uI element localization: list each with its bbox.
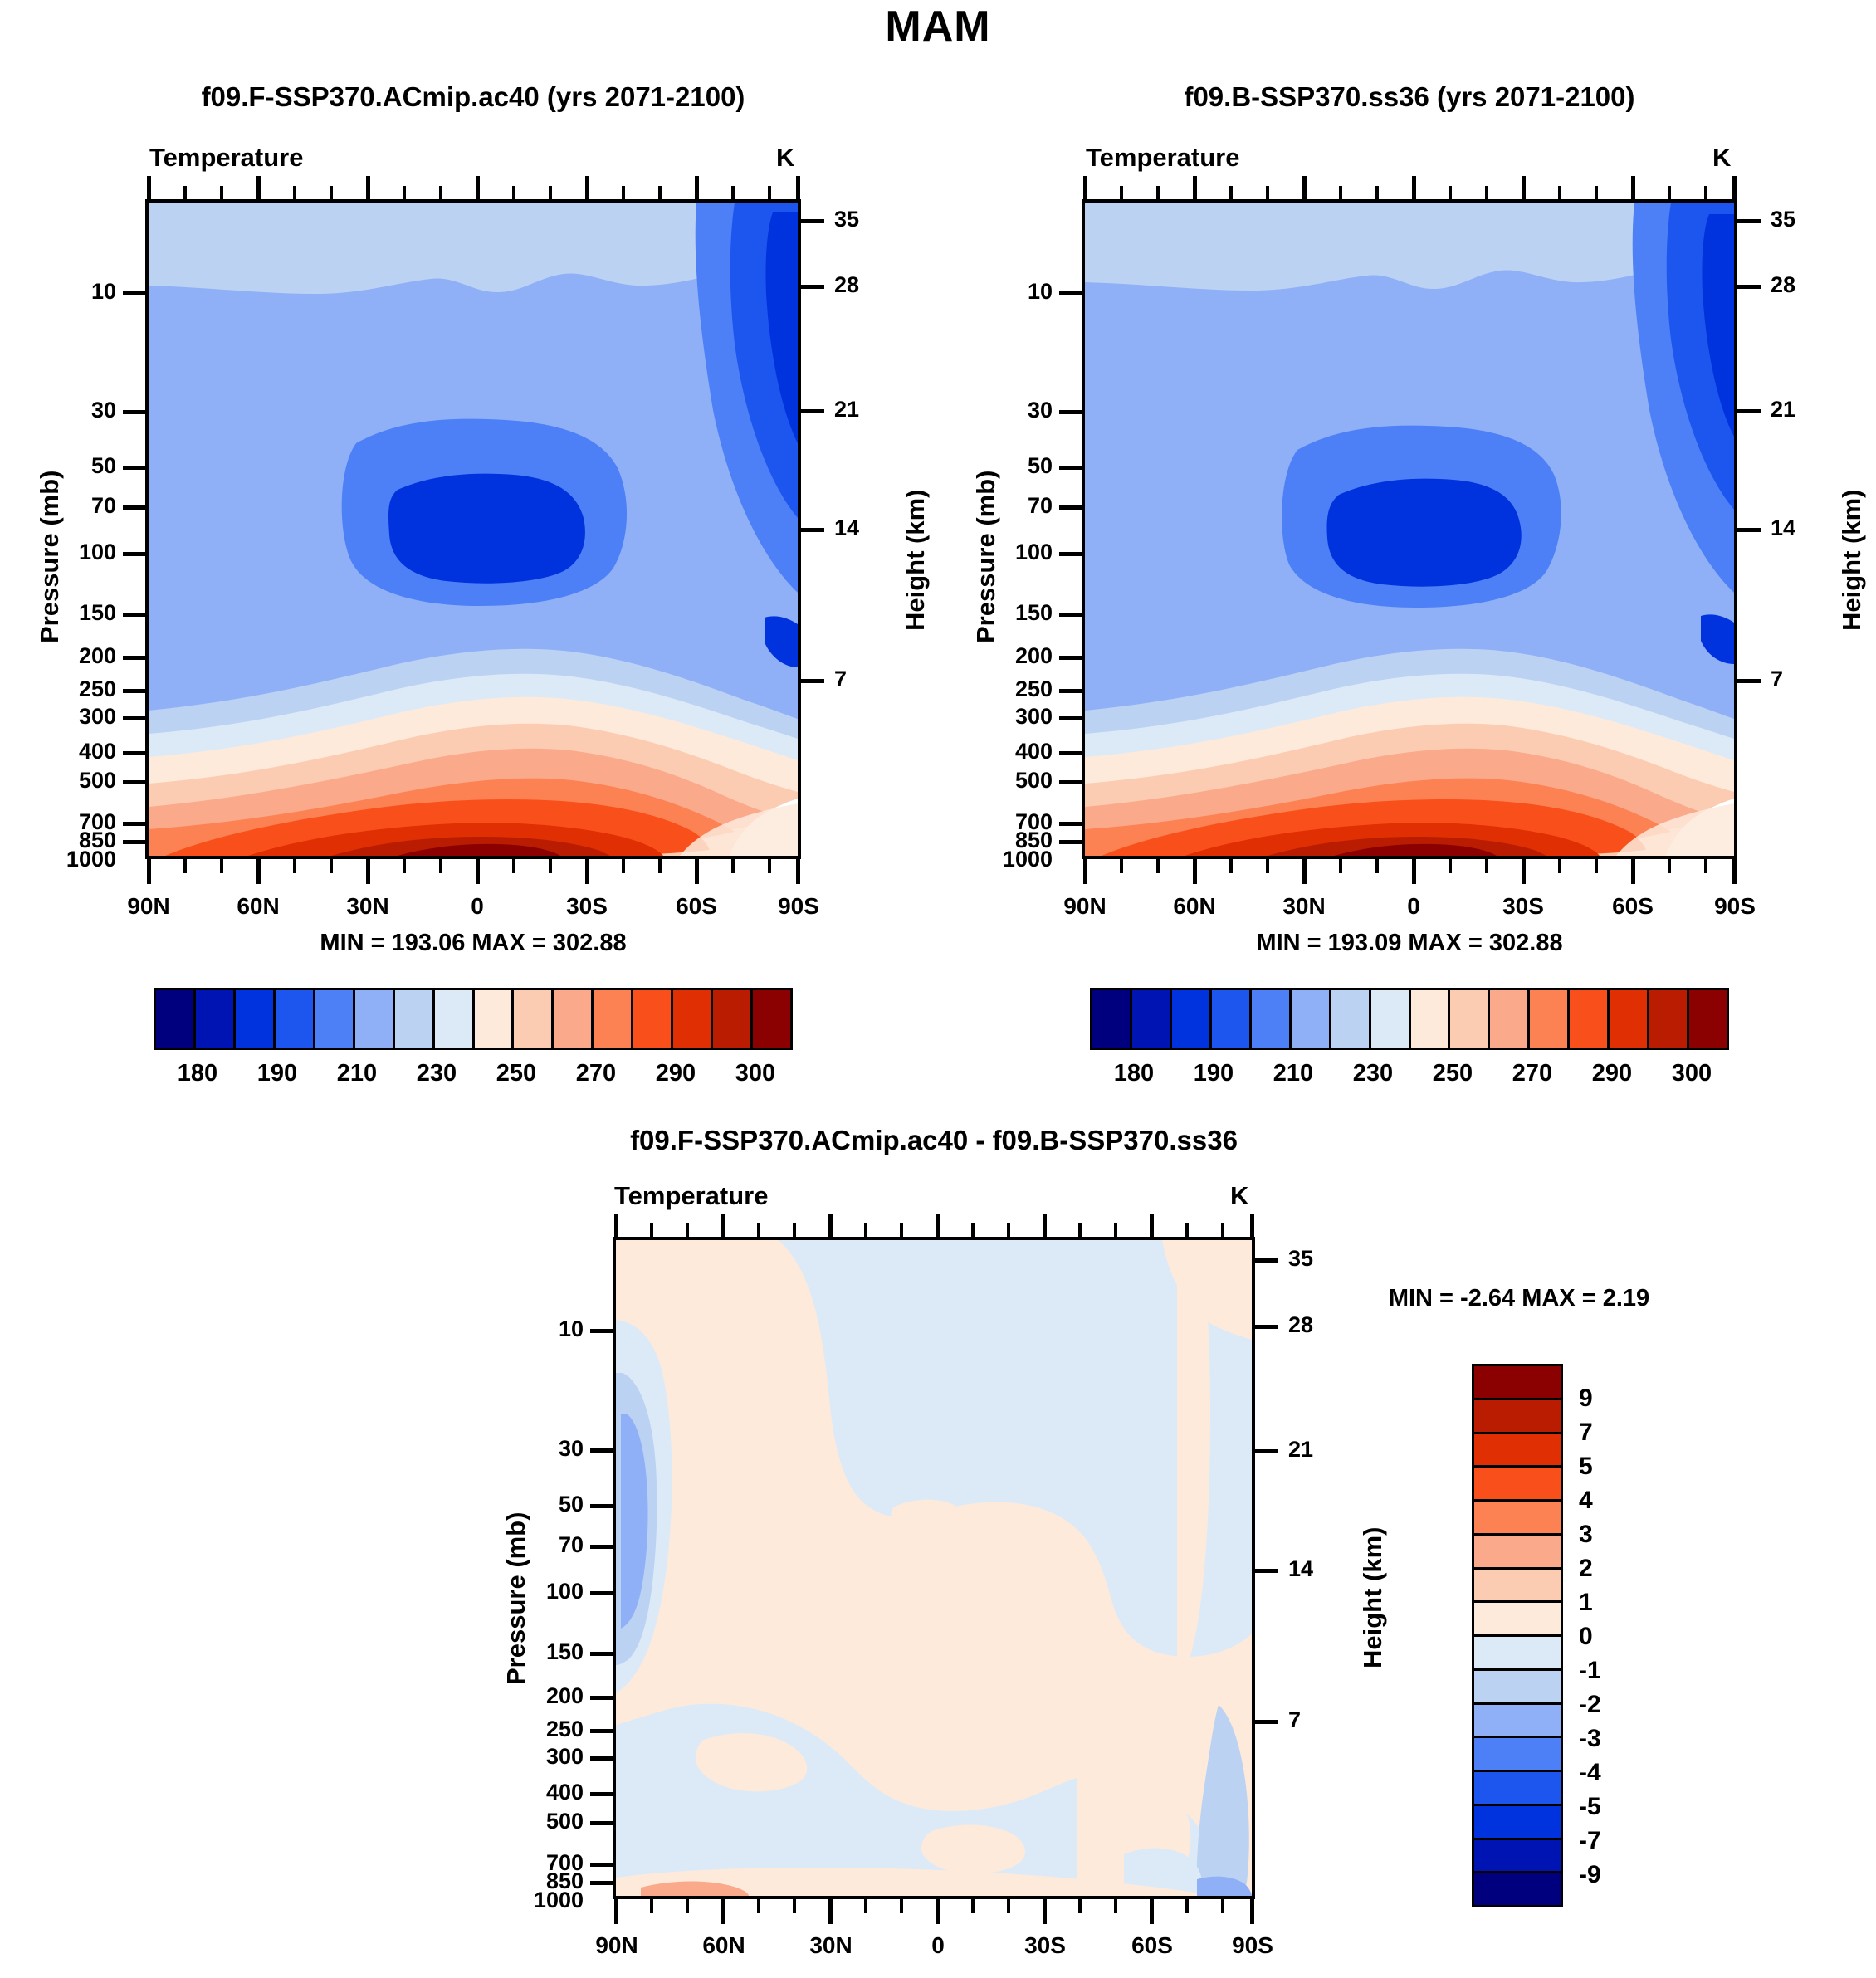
right-plot-ytick — [1059, 689, 1082, 693]
left-colorbar-tick-label: 190 — [236, 1060, 319, 1087]
left-plot-xtick-label: 90S — [749, 893, 848, 920]
right-plot-ytick — [1059, 840, 1082, 844]
right-plot-tick-top — [1302, 176, 1307, 199]
right-plot-tick-bottom — [1266, 859, 1269, 873]
left-plot-tick-top — [183, 186, 187, 199]
right-plot-tick-bottom — [1485, 859, 1488, 873]
left-plot-ytick — [123, 466, 146, 470]
left-plot-tick-top — [220, 186, 223, 199]
left-plot-ytick — [123, 780, 146, 784]
colorbar-swatch — [1689, 990, 1727, 1048]
left-colorbar-tick-label: 180 — [156, 1060, 239, 1087]
right-plot-tick-top — [1266, 186, 1269, 199]
diff-plot-tick-bottom — [1007, 1899, 1010, 1913]
diff-plot-ytick — [590, 1448, 613, 1453]
diff-plot-ytick-right — [1255, 1449, 1278, 1453]
diff-colorbar-tick-label: 5 — [1579, 1453, 1593, 1481]
diff-plot-tick-bottom — [1185, 1899, 1189, 1913]
diff-plot-tick-top — [1221, 1223, 1224, 1237]
right-plot-xtick-label: 30S — [1473, 893, 1573, 920]
diff-plot-ytick — [590, 1696, 613, 1700]
right-plot-ytick-label: 250 — [970, 676, 1053, 702]
diff-plot-xtick-label: 90S — [1203, 1932, 1302, 1959]
diff-plot-ytick-right — [1255, 1720, 1278, 1724]
colorbar-swatch — [1490, 990, 1530, 1048]
diff-plot-tick-top — [686, 1223, 689, 1237]
diff-plot-ytick-label: 70 — [498, 1532, 584, 1558]
right-plot-ytick — [1059, 751, 1082, 755]
left-colorbar-tick-label: 210 — [315, 1060, 398, 1087]
diff-colorbar-tick-label: -1 — [1579, 1657, 1601, 1685]
diff-plot-ytick — [590, 1756, 613, 1761]
colorbar-swatch — [673, 990, 713, 1048]
left-plot-ytick — [123, 613, 146, 617]
right-plot-xtick-label: 60S — [1583, 893, 1683, 920]
colorbar-swatch — [1474, 1772, 1561, 1806]
diff-plot-ytick-label: 1000 — [481, 1888, 584, 1913]
right-plot-ytick — [1059, 822, 1082, 826]
left-plot-tick-bottom — [549, 859, 552, 873]
colorbar-swatch — [1474, 1873, 1561, 1905]
left-plot-tick-top — [293, 186, 296, 199]
right-plot-tick-bottom — [1558, 859, 1561, 873]
left-panel-ylabel-right: Height (km) — [901, 490, 931, 632]
right-plot-ytick-label: 1000 — [953, 847, 1053, 872]
colorbar-swatch — [1474, 1637, 1561, 1671]
colorbar-swatch — [1474, 1671, 1561, 1705]
diff-plot-tick-bottom — [936, 1899, 940, 1924]
right-plot-ytick-label: 500 — [970, 768, 1053, 794]
diff-plot-tick-top — [971, 1223, 975, 1237]
diff-plot-tick-bottom — [793, 1899, 796, 1913]
diff-colorbar-tick-label: 9 — [1579, 1385, 1593, 1413]
colorbar-swatch — [475, 990, 515, 1048]
left-plot-tick-top — [549, 186, 552, 199]
left-plot-tick-bottom — [768, 859, 771, 873]
right-plot-ytick-right-label: 7 — [1771, 667, 1783, 692]
diff-plot-ytick — [590, 1329, 613, 1333]
diff-plot-ytick — [590, 1863, 613, 1867]
colorbar-swatch — [156, 990, 196, 1048]
colorbar-swatch — [1474, 1434, 1561, 1468]
left-plot-ytick-label: 250 — [33, 676, 116, 702]
diff-plot-xtick-label: 90N — [567, 1932, 667, 1959]
diff-plot-ytick-label: 150 — [498, 1639, 584, 1665]
right-plot-tick-bottom — [1302, 859, 1307, 884]
diff-plot-tick-bottom — [864, 1899, 867, 1913]
right-plot-tick-top — [1083, 176, 1087, 199]
diff-colorbar-tick-label: -9 — [1579, 1861, 1601, 1889]
diff-colorbar-tick-label: -7 — [1579, 1827, 1601, 1855]
right-plot-tick-top — [1558, 186, 1561, 199]
left-plot-ytick-right — [801, 528, 824, 532]
colorbar-swatch — [1092, 990, 1132, 1048]
right-plot-xtick-label: 30N — [1254, 893, 1354, 920]
left-plot-tick-bottom — [658, 859, 662, 873]
colorbar-swatch — [1474, 1705, 1561, 1739]
diff-colorbar-tick-label: -5 — [1579, 1793, 1601, 1821]
diff-plot-tick-bottom — [757, 1899, 760, 1913]
diff-plot-ytick-label: 50 — [498, 1492, 584, 1517]
right-plot-tick-bottom — [1631, 859, 1635, 884]
colorbar-swatch — [554, 990, 594, 1048]
diff-plot-ytick-right — [1255, 1569, 1278, 1573]
right-plot-ytick — [1059, 613, 1082, 617]
left-plot-xtick-label: 30N — [318, 893, 418, 920]
left-plot-xtick-label: 90N — [99, 893, 198, 920]
right-panel-title: f09.B-SSP370.ss36 (yrs 2071-2100) — [1032, 81, 1787, 113]
left-plot-ytick-label: 400 — [33, 739, 116, 764]
colorbar-swatch — [594, 990, 633, 1048]
diff-plot-ytick-label: 10 — [498, 1316, 584, 1342]
right-plot-ytick-label: 100 — [970, 540, 1053, 565]
left-plot-ytick-right-label: 7 — [834, 667, 847, 692]
diff-plot-ytick-right — [1255, 1258, 1278, 1263]
right-plot-ytick-label: 10 — [970, 279, 1053, 305]
diff-plot-tick-bottom — [1150, 1899, 1154, 1924]
diff-plot-xtick-label: 0 — [888, 1932, 988, 1959]
left-panel-title: f09.F-SSP370.ACmip.ac40 (yrs 2071-2100) — [95, 81, 851, 113]
diff-plot-tick-bottom — [721, 1899, 725, 1924]
left-plot-xtick-label: 30S — [537, 893, 637, 920]
right-plot-tick-bottom — [1732, 859, 1737, 884]
left-plot-tick-bottom — [439, 859, 442, 873]
left-plot-ytick-label: 100 — [33, 540, 116, 565]
right-plot-xtick-label: 60N — [1145, 893, 1244, 920]
right-plot-tick-bottom — [1229, 859, 1233, 873]
colorbar-swatch — [753, 990, 790, 1048]
right-colorbar-tick-label: 230 — [1331, 1060, 1414, 1087]
colorbar-swatch — [1450, 990, 1490, 1048]
right-plot-tick-top — [1375, 186, 1379, 199]
right-colorbar-tick-label: 290 — [1571, 1060, 1654, 1087]
left-plot-ytick-label: 30 — [33, 398, 116, 423]
left-plot-ytick-right-label: 14 — [834, 515, 859, 541]
left-colorbar-tick-label: 270 — [554, 1060, 638, 1087]
diff-plot-ytick-right-label: 7 — [1288, 1707, 1301, 1733]
diff-panel-plot[interactable] — [613, 1237, 1255, 1899]
left-plot-tick-top — [403, 186, 406, 199]
left-plot-tick-bottom — [731, 859, 735, 873]
right-colorbar[interactable] — [1090, 988, 1729, 1050]
colorbar-swatch — [435, 990, 475, 1048]
diff-plot-ytick — [590, 1881, 613, 1885]
diff-panel-ylabel-right: Height (km) — [1358, 1527, 1388, 1669]
left-plot-tick-top — [512, 186, 515, 199]
colorbar-swatch — [633, 990, 673, 1048]
diff-plot-tick-top — [650, 1223, 653, 1237]
left-plot-xtick-label: 60N — [208, 893, 308, 920]
colorbar-swatch — [1252, 990, 1292, 1048]
left-panel-variable-label: Temperature — [149, 143, 304, 173]
right-plot-ytick-right-label: 28 — [1771, 272, 1795, 298]
left-plot-tick-bottom — [585, 859, 589, 884]
right-plot-tick-bottom — [1595, 859, 1598, 873]
diff-plot-tick-top — [793, 1223, 796, 1237]
diff-plot-ytick — [590, 1591, 613, 1595]
colorbar-swatch — [1474, 1536, 1561, 1570]
left-plot-ytick-label: 300 — [33, 704, 116, 730]
right-plot-tick-bottom — [1668, 859, 1671, 873]
colorbar-swatch — [1474, 1840, 1561, 1874]
right-plot-tick-top — [1668, 186, 1671, 199]
right-plot-tick-bottom — [1120, 859, 1123, 873]
right-plot-tick-top — [1485, 186, 1488, 199]
diff-colorbar-tick-label: -3 — [1579, 1725, 1601, 1753]
diff-plot-ytick-right-label: 14 — [1288, 1556, 1313, 1582]
left-plot-tick-top — [476, 176, 480, 199]
figure-root: MAM f09.F-SSP370.ACmip.ac40 (yrs 2071-21… — [0, 0, 1876, 1978]
left-plot-ytick — [123, 656, 146, 660]
diff-plot-tick-bottom — [900, 1899, 903, 1913]
diff-plot-ytick — [590, 1821, 613, 1825]
left-plot-tick-top — [330, 186, 333, 199]
left-plot-tick-bottom — [512, 859, 515, 873]
diff-plot-ytick-label: 400 — [498, 1780, 584, 1805]
right-panel-units-label: K — [1712, 143, 1731, 173]
right-colorbar-tick-label: 270 — [1491, 1060, 1574, 1087]
figure-suptitle: MAM — [0, 2, 1876, 51]
diff-plot-tick-bottom — [686, 1899, 689, 1913]
diff-plot-ytick-right-label: 28 — [1288, 1312, 1313, 1338]
right-colorbar-tick-label: 300 — [1650, 1060, 1733, 1087]
diff-panel-minmax: MIN = -2.64 MAX = 2.19 — [1320, 1285, 1718, 1312]
right-plot-tick-bottom — [1193, 859, 1197, 884]
left-plot-ytick-label: 500 — [33, 768, 116, 794]
right-plot-tick-top — [1522, 176, 1526, 199]
left-plot-tick-top — [796, 176, 800, 199]
left-plot-tick-top — [147, 176, 151, 199]
diff-plot-tick-top — [1114, 1223, 1117, 1237]
right-plot-xtick-label: 90S — [1685, 893, 1785, 920]
left-colorbar-tick-label: 250 — [475, 1060, 558, 1087]
right-plot-ytick-label: 70 — [970, 493, 1053, 519]
right-plot-ytick-label: 400 — [970, 739, 1053, 764]
left-plot-tick-top — [658, 186, 662, 199]
right-plot-tick-top — [1156, 186, 1160, 199]
diff-plot-ytick-label: 30 — [498, 1436, 584, 1462]
colorbar-swatch — [1570, 990, 1610, 1048]
diff-plot-tick-bottom — [650, 1899, 653, 1913]
diff-plot-tick-bottom — [1043, 1899, 1047, 1924]
diff-plot-tick-top — [1007, 1223, 1010, 1237]
left-plot-tick-bottom — [366, 859, 370, 884]
colorbar-swatch — [355, 990, 395, 1048]
diff-plot-tick-top — [1043, 1214, 1047, 1237]
colorbar-swatch — [713, 990, 753, 1048]
right-plot-ytick — [1059, 291, 1082, 295]
right-colorbar-tick-label: 250 — [1411, 1060, 1494, 1087]
diff-plot-tick-bottom — [971, 1899, 975, 1913]
diff-plot-ytick-label: 300 — [498, 1744, 584, 1770]
diff-colorbar-tick-label: 7 — [1579, 1419, 1593, 1447]
diff-colorbar-tick-label: 3 — [1579, 1521, 1593, 1549]
left-panel-contour-field — [149, 203, 798, 856]
diff-plot-ytick-right-label: 35 — [1288, 1246, 1313, 1272]
right-plot-tick-bottom — [1412, 859, 1416, 884]
colorbar-swatch — [1331, 990, 1371, 1048]
left-plot-ytick-label: 70 — [33, 493, 116, 519]
colorbar-swatch — [514, 990, 554, 1048]
left-plot-tick-top — [366, 176, 370, 199]
right-plot-ytick — [1059, 780, 1082, 784]
diff-colorbar-tick-label: -4 — [1579, 1759, 1601, 1787]
colorbar-swatch — [196, 990, 236, 1048]
right-plot-tick-bottom — [1449, 859, 1452, 873]
diff-plot-ytick — [590, 1729, 613, 1733]
left-plot-ytick — [123, 505, 146, 510]
diff-plot-ytick-label: 250 — [498, 1717, 584, 1742]
left-plot-tick-bottom — [622, 859, 625, 873]
diff-plot-tick-bottom — [1250, 1899, 1254, 1924]
right-colorbar-tick-label: 210 — [1252, 1060, 1335, 1087]
diff-plot-xtick-label: 30N — [781, 1932, 881, 1959]
diff-plot-tick-top — [936, 1214, 940, 1237]
left-plot-tick-top — [439, 186, 442, 199]
right-plot-tick-bottom — [1522, 859, 1526, 884]
right-plot-ytick-right — [1737, 679, 1761, 683]
left-plot-ytick-right-label: 28 — [834, 272, 859, 298]
diff-plot-xtick-label: 30S — [995, 1932, 1095, 1959]
left-plot-ytick — [123, 822, 146, 826]
colorbar-swatch — [1132, 990, 1172, 1048]
diff-panel-contour-field — [616, 1240, 1252, 1896]
diff-plot-tick-bottom — [1221, 1899, 1224, 1913]
right-plot-xtick-label: 90N — [1035, 893, 1135, 920]
right-plot-ytick-label: 200 — [970, 643, 1053, 669]
left-plot-ytick-right-label: 21 — [834, 397, 859, 422]
right-plot-tick-top — [1631, 176, 1635, 199]
right-plot-ytick-right — [1737, 285, 1761, 289]
right-colorbar-tick-label: 180 — [1092, 1060, 1175, 1087]
left-colorbar-tick-label: 290 — [634, 1060, 717, 1087]
colorbar-swatch — [1172, 990, 1212, 1048]
right-plot-ytick-label: 50 — [970, 453, 1053, 479]
right-panel-variable-label: Temperature — [1086, 143, 1240, 173]
right-panel-plot[interactable] — [1082, 199, 1737, 859]
right-plot-ytick — [1059, 716, 1082, 720]
left-plot-tick-bottom — [476, 859, 480, 884]
left-plot-ytick-label: 10 — [33, 279, 116, 305]
diff-plot-ytick — [590, 1545, 613, 1549]
right-plot-ytick — [1059, 505, 1082, 510]
right-plot-tick-top — [1449, 186, 1452, 199]
right-plot-tick-top — [1412, 176, 1416, 199]
diff-colorbar[interactable] — [1472, 1364, 1563, 1907]
diff-plot-ytick — [590, 1504, 613, 1508]
diff-colorbar-tick-label: 4 — [1579, 1487, 1593, 1515]
left-plot-tick-bottom — [220, 859, 223, 873]
right-plot-tick-bottom — [1156, 859, 1160, 873]
left-plot-xtick-label: 0 — [427, 893, 527, 920]
right-plot-tick-bottom — [1704, 859, 1707, 873]
colorbar-swatch — [1212, 990, 1252, 1048]
left-plot-ytick-right — [801, 679, 824, 683]
colorbar-swatch — [236, 990, 276, 1048]
diff-panel-variable-label: Temperature — [614, 1181, 769, 1211]
diff-plot-tick-top — [864, 1223, 867, 1237]
colorbar-swatch — [1474, 1603, 1561, 1637]
right-plot-tick-top — [1595, 186, 1598, 199]
left-plot-ytick — [123, 751, 146, 755]
diff-plot-tick-top — [1250, 1214, 1254, 1237]
right-plot-tick-top — [1704, 186, 1707, 199]
diff-plot-tick-top — [757, 1223, 760, 1237]
left-colorbar[interactable] — [154, 988, 793, 1050]
right-plot-ytick-right — [1737, 409, 1761, 413]
right-plot-ytick-right-label: 21 — [1771, 397, 1795, 422]
left-plot-tick-top — [585, 176, 589, 199]
diff-plot-xtick-label: 60S — [1102, 1932, 1202, 1959]
right-plot-tick-top — [1339, 186, 1342, 199]
left-plot-ytick-label: 150 — [33, 600, 116, 626]
colorbar-swatch — [395, 990, 435, 1048]
diff-plot-tick-bottom — [1078, 1899, 1082, 1913]
left-plot-ytick-right — [801, 409, 824, 413]
left-plot-ytick — [123, 840, 146, 844]
colorbar-swatch — [1474, 1400, 1561, 1434]
left-plot-ytick — [123, 552, 146, 556]
left-plot-ytick — [123, 689, 146, 693]
left-plot-tick-bottom — [183, 859, 187, 873]
right-plot-ytick — [1059, 552, 1082, 556]
left-plot-xtick-label: 60S — [647, 893, 746, 920]
diff-plot-tick-top — [721, 1214, 725, 1237]
left-plot-tick-top — [768, 186, 771, 199]
colorbar-swatch — [1292, 990, 1331, 1048]
right-plot-ytick — [1059, 466, 1082, 470]
diff-plot-ytick-right-label: 21 — [1288, 1437, 1313, 1463]
right-plot-tick-top — [1732, 176, 1737, 199]
diff-plot-xtick-label: 60N — [674, 1932, 774, 1959]
left-plot-ytick-right-label: 35 — [834, 207, 859, 232]
colorbar-swatch — [1474, 1366, 1561, 1400]
left-plot-tick-top — [695, 176, 699, 199]
diff-plot-tick-top — [1150, 1214, 1154, 1237]
left-plot-ytick — [123, 291, 146, 295]
left-colorbar-tick-label: 230 — [395, 1060, 478, 1087]
diff-plot-tick-bottom — [1114, 1899, 1117, 1913]
right-plot-ytick-right-label: 14 — [1771, 515, 1795, 541]
right-panel-minmax: MIN = 193.09 MAX = 302.88 — [1082, 930, 1737, 957]
left-plot-tick-bottom — [796, 859, 800, 884]
right-plot-tick-bottom — [1339, 859, 1342, 873]
diff-plot-tick-bottom — [614, 1899, 618, 1924]
left-plot-tick-bottom — [330, 859, 333, 873]
left-plot-tick-top — [731, 186, 735, 199]
left-plot-ytick — [123, 716, 146, 720]
colorbar-swatch — [276, 990, 315, 1048]
colorbar-swatch — [1649, 990, 1689, 1048]
diff-colorbar-tick-label: 2 — [1579, 1555, 1593, 1583]
diff-colorbar-tick-label: 1 — [1579, 1589, 1593, 1617]
diff-plot-tick-bottom — [828, 1899, 833, 1924]
diff-colorbar-tick-label: -2 — [1579, 1691, 1601, 1719]
diff-plot-ytick-label: 200 — [498, 1683, 584, 1709]
diff-panel-units-label: K — [1230, 1181, 1248, 1211]
colorbar-swatch — [1474, 1570, 1561, 1604]
colorbar-swatch — [1474, 1806, 1561, 1840]
diff-plot-tick-top — [1078, 1223, 1082, 1237]
right-plot-ytick-right-label: 35 — [1771, 207, 1795, 232]
diff-plot-ytick-right — [1255, 1325, 1278, 1329]
diff-panel-title: f09.F-SSP370.ACmip.ac40 - f09.B-SSP370.s… — [477, 1125, 1390, 1156]
right-plot-tick-top — [1229, 186, 1233, 199]
right-plot-ytick-right — [1737, 219, 1761, 223]
left-panel-plot[interactable] — [145, 199, 801, 859]
colorbar-swatch — [1474, 1738, 1561, 1772]
diff-colorbar-tick-label: 0 — [1579, 1623, 1593, 1651]
